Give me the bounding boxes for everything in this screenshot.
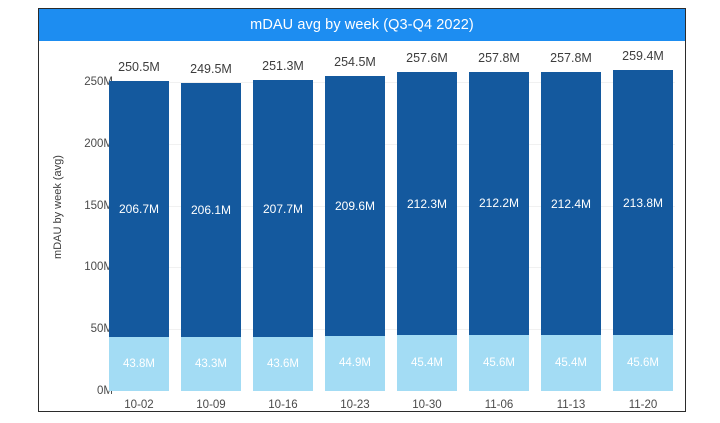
bar-segment-international[interactable]: 212.3M	[397, 72, 457, 334]
bar-segment-international[interactable]: 207.7M	[253, 80, 313, 337]
bar-segment-label: 43.3M	[181, 358, 241, 370]
chart-screenshot: mDAU avg by week (Q3-Q4 2022) mDAU by we…	[0, 0, 720, 423]
bar-column[interactable]: 207.7M43.6M251.3M10-16	[253, 41, 313, 411]
bar-segment-international[interactable]: 212.4M	[541, 72, 601, 335]
bar-segment-us[interactable]: 45.6M	[613, 335, 673, 391]
bars-area: 206.7M43.8M250.5M10-02206.1M43.3M249.5M1…	[103, 41, 679, 411]
bar-segment-us[interactable]: 43.3M	[181, 337, 241, 391]
bar-segment-us[interactable]: 44.9M	[325, 336, 385, 391]
bar-segment-label: 206.1M	[181, 203, 241, 217]
bar-segment-label: 43.8M	[109, 358, 169, 370]
bar-segment-label: 206.7M	[109, 202, 169, 216]
bar-column[interactable]: 209.6M44.9M254.5M10-23	[325, 41, 385, 411]
bar-segment-international[interactable]: 206.1M	[181, 83, 241, 338]
bar-segment-us[interactable]: 43.6M	[253, 337, 313, 391]
bar-column[interactable]: 212.2M45.6M257.8M11-06	[469, 41, 529, 411]
bar-segment-label: 45.4M	[397, 357, 457, 369]
bar-segment-us[interactable]: 45.4M	[541, 335, 601, 391]
bar-segment-label: 212.4M	[541, 197, 601, 211]
page-title: mDAU avg by week (Q3-Q4 2022)	[250, 17, 474, 33]
bar-segment-us[interactable]: 45.4M	[397, 335, 457, 391]
bar-segment-label: 44.9M	[325, 357, 385, 369]
chart-frame: mDAU avg by week (Q3-Q4 2022) mDAU by we…	[38, 8, 686, 412]
plot-region: mDAU by week (avg) 0M50M100M150M200M250M…	[39, 41, 685, 411]
bar-segment-international[interactable]: 213.8M	[613, 70, 673, 334]
x-axis-tick: 11-20	[599, 399, 687, 411]
bar-total-label: 259.4M	[599, 49, 687, 63]
bar-column[interactable]: 206.7M43.8M250.5M10-02	[109, 41, 169, 411]
bar-segment-us[interactable]: 43.8M	[109, 337, 169, 391]
bar-segment-label: 43.6M	[253, 358, 313, 370]
chart-title-bar: mDAU avg by week (Q3-Q4 2022)	[39, 9, 685, 41]
bar-segment-label: 212.2M	[469, 196, 529, 210]
bar-segment-us[interactable]: 45.6M	[469, 335, 529, 391]
bar-segment-label: 45.4M	[541, 357, 601, 369]
bar-segment-international[interactable]: 209.6M	[325, 76, 385, 335]
bar-segment-label: 212.3M	[397, 197, 457, 211]
bar-column[interactable]: 212.3M45.4M257.6M10-30	[397, 41, 457, 411]
bar-column[interactable]: 212.4M45.4M257.8M11-13	[541, 41, 601, 411]
bar-segment-label: 209.6M	[325, 199, 385, 213]
bar-segment-international[interactable]: 206.7M	[109, 81, 169, 336]
bar-column[interactable]: 206.1M43.3M249.5M10-09	[181, 41, 241, 411]
bar-column[interactable]: 213.8M45.6M259.4M11-20	[613, 41, 673, 411]
bar-segment-label: 207.7M	[253, 202, 313, 216]
bar-segment-label: 45.6M	[469, 357, 529, 369]
bar-segment-international[interactable]: 212.2M	[469, 72, 529, 334]
bar-segment-label: 45.6M	[613, 357, 673, 369]
bar-segment-label: 213.8M	[613, 196, 673, 210]
